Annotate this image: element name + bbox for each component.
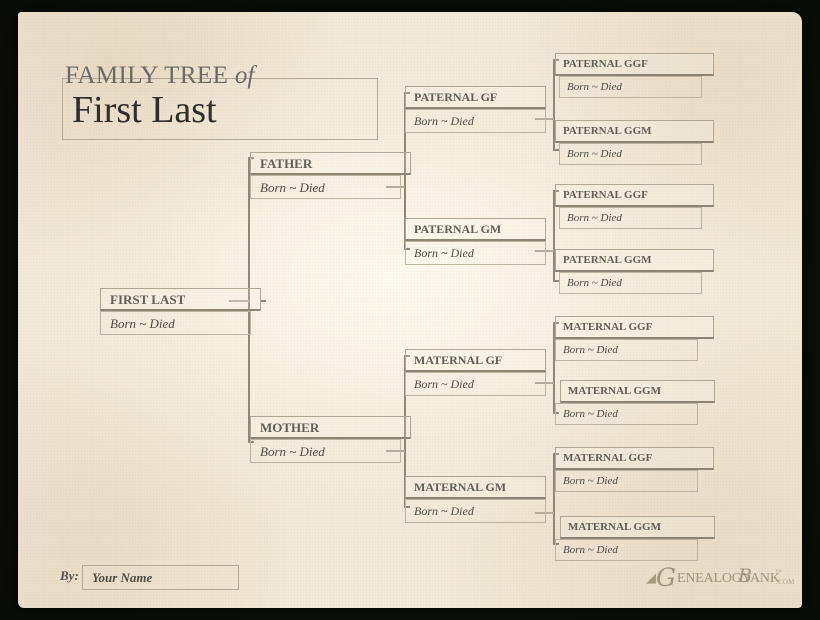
family-tree-chart-page: FAMILY TREE of First Last xyxy=(0,0,820,620)
person-dates-value: Born ~ Died xyxy=(563,344,618,356)
person-dates-value: Born ~ Died xyxy=(567,148,622,160)
person-name-value: FATHER xyxy=(260,156,312,172)
person-name-value: MOTHER xyxy=(260,420,319,436)
person-dates-value: Born ~ Died xyxy=(110,316,175,332)
person-dates-value: Born ~ Died xyxy=(414,504,474,519)
person-dates-value: Born ~ Died xyxy=(414,377,474,392)
person-dates-value: Born ~ Died xyxy=(567,81,622,93)
chart-title-eyebrow: FAMILY TREE of xyxy=(65,62,254,90)
person-name-value: MATERNAL GGF xyxy=(563,452,652,464)
person-dates-value: Born ~ Died xyxy=(567,212,622,224)
person-name-value: PATERNAL GM xyxy=(414,222,501,237)
person-name-value: MATERNAL GGM xyxy=(568,521,661,533)
genealogybank-logo[interactable]: ◢ G ENEALOGY B ANK ™ .COM xyxy=(646,566,786,590)
credit-label: By: xyxy=(60,568,79,584)
credit-input-value: Your Name xyxy=(92,570,152,586)
person-name-value: PATERNAL GF xyxy=(414,90,497,105)
person-name-value: MATERNAL GGF xyxy=(563,321,652,333)
logo-initial-g: G xyxy=(656,565,676,590)
person-dates-value: Born ~ Died xyxy=(567,277,622,289)
person-dates-value: Born ~ Died xyxy=(563,544,618,556)
person-name-value: PATERNAL GGF xyxy=(563,58,648,70)
person-dates-value: Born ~ Died xyxy=(414,246,474,261)
chart-title-eyebrow-of: of xyxy=(235,62,254,89)
person-name-value: PATERNAL GGM xyxy=(563,125,652,137)
person-name-value: PATERNAL GGF xyxy=(563,189,648,201)
person-dates-value: Born ~ Died xyxy=(414,114,474,129)
person-dates-value: Born ~ Died xyxy=(563,408,618,420)
person-name-value: PATERNAL GGM xyxy=(563,254,652,266)
person-name-value: MATERNAL GGM xyxy=(568,385,661,397)
logo-trademark-symbol: ™ xyxy=(775,568,782,576)
person-dates-value: Born ~ Died xyxy=(260,444,325,460)
chart-title-eyebrow-text: FAMILY TREE xyxy=(65,62,228,89)
person-dates-value: Born ~ Died xyxy=(260,180,325,196)
banner-flag-icon: ◢ xyxy=(646,572,655,584)
person-name-value: MATERNAL GM xyxy=(414,480,506,495)
person-dates-value: Born ~ Died xyxy=(563,475,618,487)
logo-dotcom-suffix: .COM xyxy=(776,578,795,586)
person-name-value: MATERNAL GF xyxy=(414,353,502,368)
subject-name-value: First Last xyxy=(72,88,217,132)
person-name-value: FIRST LAST xyxy=(110,292,185,308)
chart-content: FAMILY TREE of First Last xyxy=(0,0,820,620)
